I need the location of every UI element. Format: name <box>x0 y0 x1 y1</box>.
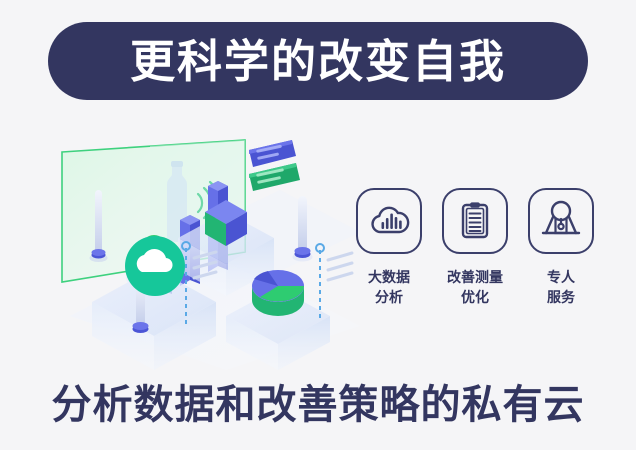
tagline: 分析数据和改善策略的私有云 <box>0 382 636 428</box>
feature-label-service: 专人 服务 <box>547 267 575 308</box>
feature-item-measurement[interactable]: 改善测量 优化 <box>438 188 512 308</box>
feature-list: 大数据 分析 改善测量 优化 <box>352 188 598 328</box>
cloud-bar-chart-icon <box>367 199 411 243</box>
feature-item-service[interactable]: 专人 服务 <box>524 188 598 308</box>
page-title: 更科学的改变自我 <box>130 39 506 84</box>
header-banner: 更科学的改变自我 <box>48 22 588 100</box>
pie-chart-3d <box>252 270 304 316</box>
infographic-page: 更科学的改变自我 <box>0 0 636 450</box>
feature-label-measurement: 改善测量 优化 <box>447 267 503 308</box>
feature-icon-frame-2 <box>442 188 508 254</box>
feature-item-big-data[interactable]: 大数据 分析 <box>352 188 426 308</box>
feature-icon-frame-3 <box>528 188 594 254</box>
feature-label-big-data: 大数据 分析 <box>368 267 410 308</box>
isometric-illustration <box>30 120 360 370</box>
green-tag-card <box>249 163 300 191</box>
clipboard-icon <box>453 199 497 243</box>
feature-icon-frame-1 <box>356 188 422 254</box>
blue-tag-card <box>249 140 296 167</box>
support-agent-icon <box>537 197 585 245</box>
